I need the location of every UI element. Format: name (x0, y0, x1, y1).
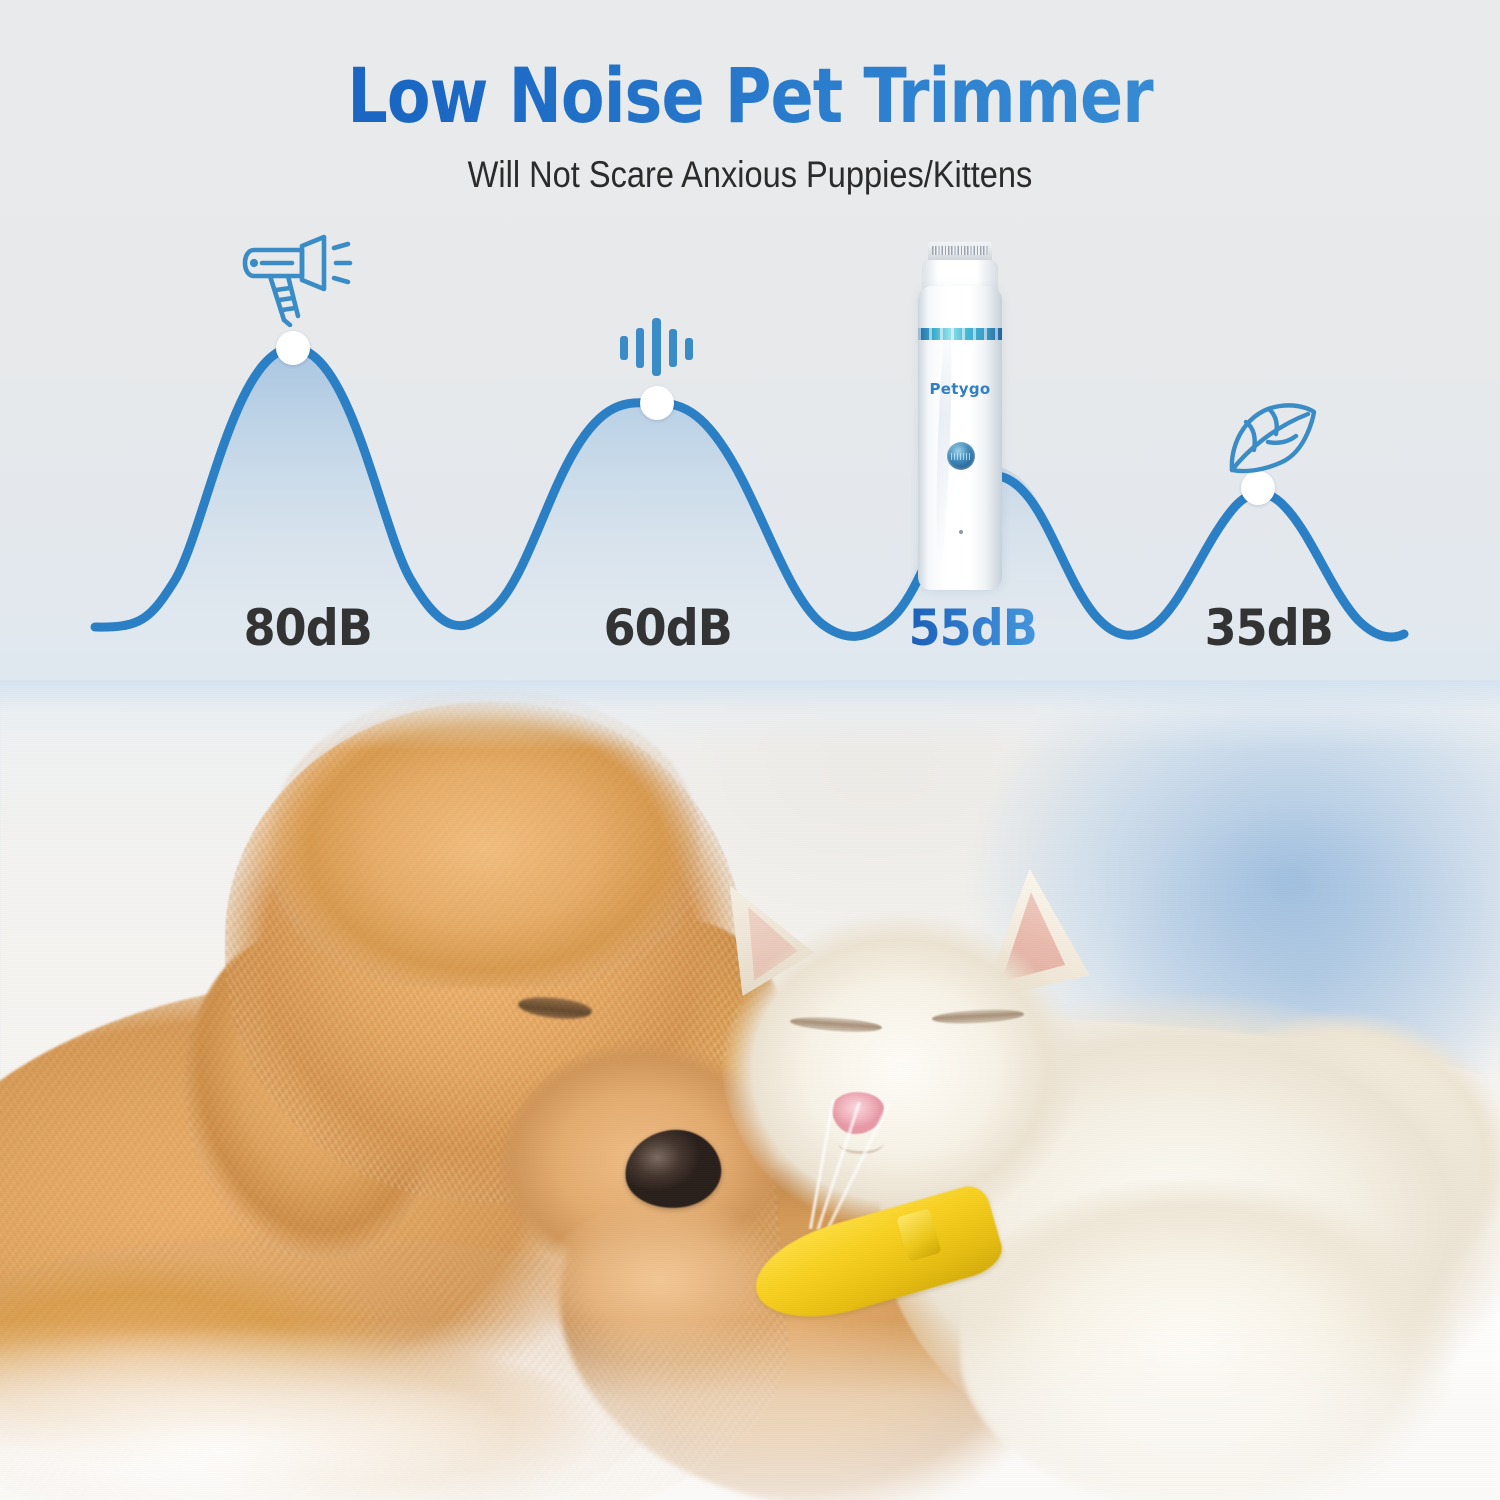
db-label-60: 60dB (604, 599, 732, 657)
sound-wave-icon (616, 318, 694, 381)
pet-photo (0, 680, 1500, 1500)
photo-top-fade (0, 680, 1500, 750)
hair-dryer-icon (240, 232, 355, 332)
infographic-canvas: Low Noise Pet Trimmer Will Not Scare Anx… (0, 0, 1500, 1500)
trimmer-display-icon (947, 442, 975, 470)
db-label-80: 80dB (244, 599, 372, 657)
page-title: Low Noise Pet Trimmer (53, 58, 1448, 134)
header: Low Noise Pet Trimmer Will Not Scare Anx… (0, 0, 1500, 196)
db-label-35: 35dB (1205, 599, 1333, 657)
pet-trimmer-product: Petygo (912, 242, 1008, 590)
trimmer-brand-label: Petygo (912, 380, 1008, 398)
photo-foreground-blanket (0, 1320, 1500, 1500)
db-label-55: 55dB (909, 599, 1037, 657)
noise-level-wave-chart: 80dB 60dB 55dB 35dB (0, 200, 1500, 700)
page-subtitle: Will Not Scare Anxious Puppies/Kittens (90, 154, 1410, 196)
trimmer-accent-band (918, 328, 1002, 340)
peak-dot-80db (276, 331, 310, 365)
leaf-icon (1224, 398, 1320, 483)
peak-dot-60db (640, 386, 674, 420)
trimmer-led-icon (959, 530, 963, 534)
